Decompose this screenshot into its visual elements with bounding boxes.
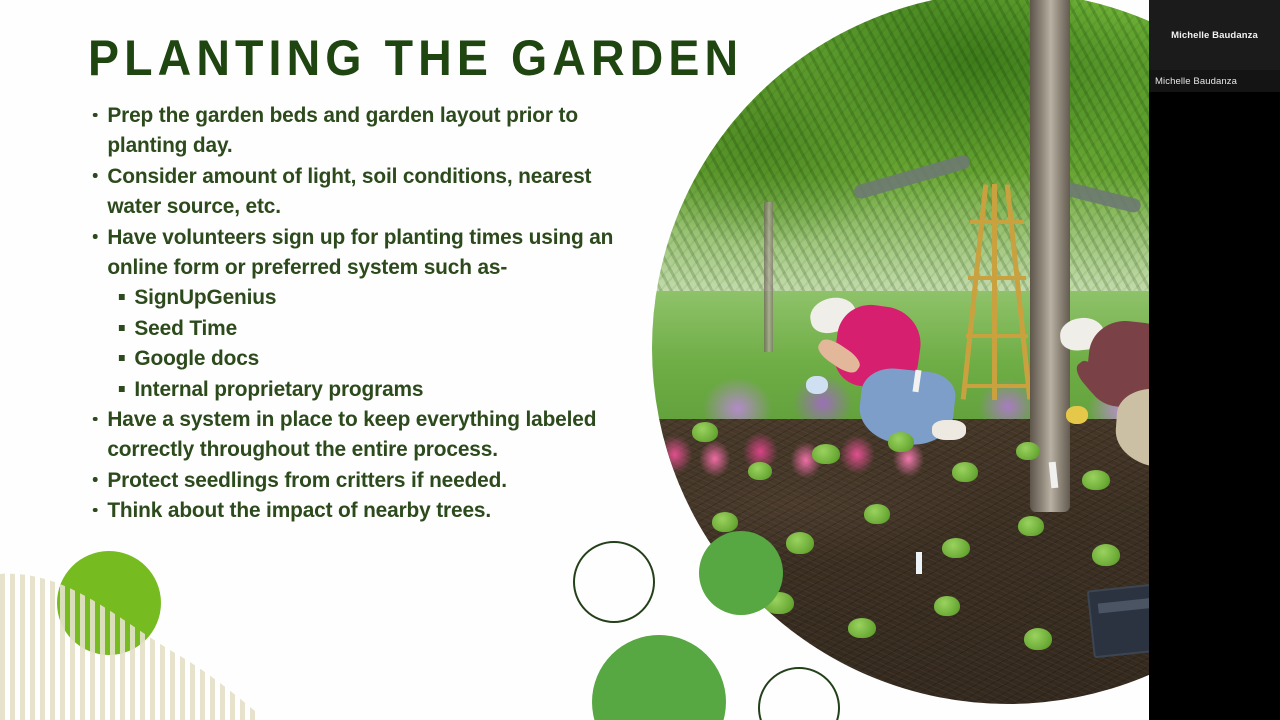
photo-seedling <box>942 538 970 558</box>
photo-seedling <box>888 432 914 452</box>
slide-body-list: Prep the garden beds and garden layout p… <box>86 100 646 526</box>
meeting-screen-share-view: PLANTING THE GARDEN Prep the garden beds… <box>0 0 1280 720</box>
video-tile-michelle[interactable]: Michelle Baudanza <box>1149 0 1280 70</box>
photo-gardener-shoe-1 <box>932 420 966 440</box>
sub-list-item: Seed Time <box>115 313 630 343</box>
sub-list-item: Internal proprietary programs <box>115 374 630 404</box>
decor-circle-outline-upper <box>573 541 655 623</box>
photo-seedling <box>864 504 890 524</box>
slide-sub-list: SignUpGenius Seed Time Google docs Inter… <box>86 282 646 404</box>
photo-seedling <box>812 444 840 464</box>
photo-seedling <box>786 532 814 554</box>
presentation-slide: PLANTING THE GARDEN Prep the garden beds… <box>0 0 1149 720</box>
list-item: Think about the impact of nearby trees. <box>86 495 629 525</box>
photo-seedling <box>712 512 738 532</box>
participant-name-label: Michelle Baudanza <box>1155 76 1237 87</box>
participant-name-strip[interactable]: Michelle Baudanza <box>1149 70 1280 92</box>
photo-seedling <box>1016 442 1040 460</box>
photo-gardener-glove-2 <box>1066 406 1088 424</box>
photo-seedling <box>1082 470 1110 490</box>
photo-seedling <box>692 422 718 442</box>
photo-seedling <box>1024 628 1052 650</box>
list-item: Have volunteers sign up for planting tim… <box>86 222 629 283</box>
photo-plant-label-3 <box>916 552 922 574</box>
list-item: Prep the garden beds and garden layout p… <box>86 100 629 161</box>
decor-circle-green-upper <box>699 531 783 615</box>
photo-seedling <box>1018 516 1044 536</box>
photo-seedling <box>934 596 960 616</box>
photo-seedling <box>1092 544 1120 566</box>
photo-seedling <box>848 618 876 638</box>
sidebar-empty-area <box>1149 92 1280 720</box>
photo-seedling <box>952 462 978 482</box>
photo-gardener-glove-1 <box>806 376 828 394</box>
sub-list-item: SignUpGenius <box>115 282 630 312</box>
page-title: PLANTING THE GARDEN <box>88 30 743 86</box>
sub-list-item: Google docs <box>115 343 630 373</box>
list-item: Have a system in place to keep everythin… <box>86 404 629 465</box>
photo-tree-trunk-back-left <box>764 202 773 352</box>
list-item: Consider amount of light, soil condition… <box>86 161 629 222</box>
participants-sidebar: Michelle Baudanza Michelle Baudanza <box>1149 0 1280 720</box>
photo-seedling <box>748 462 772 480</box>
photo-seed-tray <box>1087 578 1149 659</box>
decor-striped-wedge-overlay <box>0 552 256 720</box>
video-tile-name-label: Michelle Baudanza <box>1171 30 1258 41</box>
list-item: Protect seedlings from critters if neede… <box>86 465 629 495</box>
